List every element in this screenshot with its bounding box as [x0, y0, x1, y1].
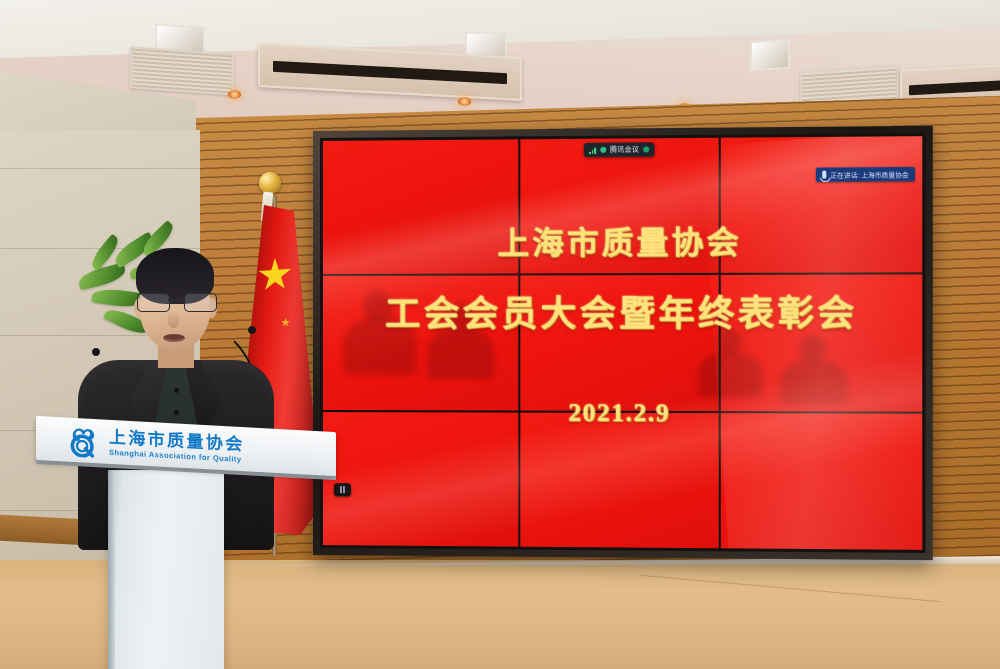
- recessed-downlight-icon: [750, 39, 790, 71]
- microphone-on-icon[interactable]: [600, 147, 606, 153]
- video-wall-panel: [323, 412, 518, 547]
- video-wall-panel: [721, 136, 923, 273]
- speaking-now-badge: 正在讲话: 上海市质量协会: [816, 167, 915, 182]
- podium-body: [108, 470, 224, 669]
- podium-text-block: 上海市质量协会 Shanghai Association for Quality: [109, 429, 245, 464]
- video-wall-panel: [323, 139, 518, 274]
- video-wall-panel: [721, 275, 923, 412]
- presenter-nose: [168, 310, 179, 328]
- video-wall-panel: [721, 413, 923, 550]
- ceiling-spotlight-icon: [228, 90, 241, 99]
- signal-bars-icon: [589, 146, 596, 153]
- led-video-wall[interactable]: 上海市质量协会 工会会员大会暨年终表彰会 2021.2.9 腾讯会议 正在讲话:…: [313, 126, 933, 560]
- speaking-now-label: 正在讲话: 上海市质量协会: [830, 169, 908, 180]
- meeting-app-toolbar[interactable]: 腾讯会议: [584, 142, 655, 157]
- speaker-on-icon[interactable]: [643, 146, 649, 152]
- ceiling-spotlight-icon: [458, 97, 471, 106]
- eyeglasses-icon: [134, 293, 218, 310]
- video-wall-panel-grid: [323, 136, 922, 550]
- video-wall-panel: [520, 412, 718, 548]
- saq-q-logo: [66, 425, 100, 458]
- microphone-icon: [822, 171, 826, 179]
- ir-receiver-module: [334, 483, 351, 496]
- meeting-app-label: 腾讯会议: [610, 144, 639, 154]
- speaker-podium: 上海市质量协会 Shanghai Association for Quality: [30, 424, 210, 669]
- conference-hall-photo: 上海市质量协会 工会会员大会暨年终表彰会 2021.2.9 腾讯会议 正在讲话:…: [0, 0, 1000, 669]
- video-wall-panel: [323, 276, 518, 410]
- video-wall-panel: [520, 275, 718, 410]
- video-wall-panel: [520, 138, 718, 274]
- flagpole-finial: [259, 172, 281, 194]
- air-vent-icon: [130, 46, 234, 95]
- presenter-mouth: [163, 334, 185, 342]
